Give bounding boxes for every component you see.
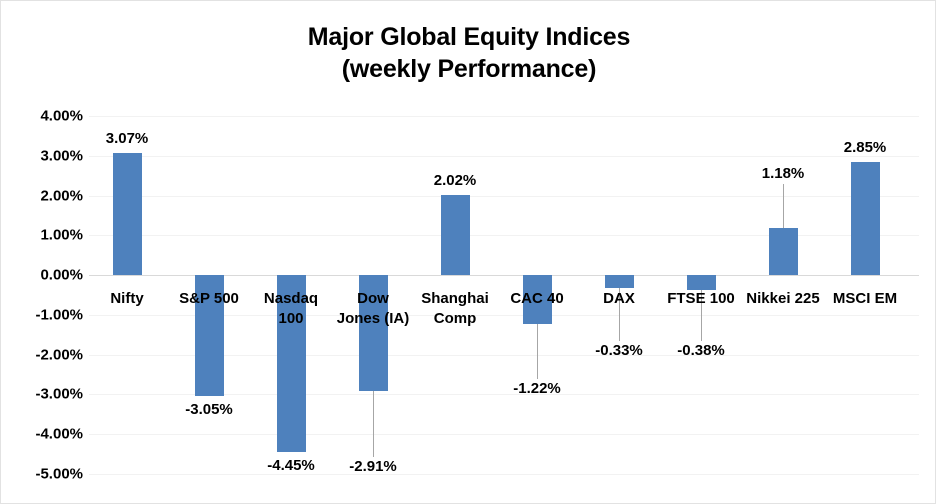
y-axis: 4.00%3.00%2.00%1.00%0.00%-1.00%-2.00%-3.…: [1, 116, 83, 474]
x-axis-category-label: Nikkei 225: [740, 289, 826, 309]
x-axis-category-label: ShanghaiComp: [412, 289, 498, 329]
data-label: -3.05%: [185, 402, 233, 418]
x-axis-category-label-line: Jones (IA): [330, 309, 416, 329]
x-axis-category-label-line: S&P 500: [166, 289, 252, 309]
bar[interactable]: [605, 275, 634, 288]
x-axis-category-label: S&P 500: [166, 289, 252, 309]
y-axis-tick-label: 3.00%: [9, 148, 83, 163]
data-label: 3.07%: [106, 131, 149, 147]
data-label: -0.33%: [595, 343, 643, 359]
x-axis-category-label: Nifty: [84, 289, 170, 309]
bar[interactable]: [113, 153, 142, 275]
y-axis-tick-label: 0.00%: [9, 268, 83, 283]
data-label: 2.85%: [844, 140, 887, 156]
x-axis-category-label-line: Comp: [412, 309, 498, 329]
data-label: -4.45%: [267, 458, 315, 474]
bar[interactable]: [441, 195, 470, 275]
data-label: -2.91%: [349, 459, 397, 475]
equity-indices-bar-chart: Major Global Equity Indices (weekly Perf…: [0, 0, 936, 504]
y-axis-tick-label: 1.00%: [9, 228, 83, 243]
data-label: -0.38%: [677, 343, 725, 359]
x-axis-category-label-line: MSCI EM: [822, 289, 908, 309]
x-axis-category-label-line: 100: [248, 309, 334, 329]
chart-title-line-2: (weekly Performance): [1, 53, 936, 85]
leader-line: [783, 184, 784, 228]
x-axis-category-label: DAX: [576, 289, 662, 309]
x-axis-category-label-line: CAC 40: [494, 289, 580, 309]
x-axis-category-label-line: FTSE 100: [658, 289, 744, 309]
x-axis-category-label-line: Shanghai: [412, 289, 498, 309]
y-axis-tick-label: -1.00%: [9, 307, 83, 322]
gridline: [89, 156, 919, 157]
x-axis-category-label-line: Dow: [330, 289, 416, 309]
y-axis-tick-label: -3.00%: [9, 387, 83, 402]
y-axis-tick-label: 4.00%: [9, 109, 83, 124]
gridline: [89, 474, 919, 475]
data-label: 2.02%: [434, 173, 477, 189]
leader-line: [373, 391, 374, 457]
y-axis-tick-label: -2.00%: [9, 347, 83, 362]
x-axis-category-label-line: Nasdaq: [248, 289, 334, 309]
y-axis-tick-label: -4.00%: [9, 427, 83, 442]
x-axis-category-label-line: Nifty: [84, 289, 170, 309]
x-axis-category-label: DowJones (IA): [330, 289, 416, 329]
chart-title-line-1: Major Global Equity Indices: [1, 21, 936, 53]
bar[interactable]: [851, 162, 880, 275]
chart-title: Major Global Equity Indices (weekly Perf…: [1, 21, 936, 85]
data-label: -1.22%: [513, 381, 561, 397]
x-axis-category-label: CAC 40: [494, 289, 580, 309]
gridline: [89, 196, 919, 197]
x-axis-category-label: FTSE 100: [658, 289, 744, 309]
gridline: [89, 116, 919, 117]
x-axis-category-label: Nasdaq100: [248, 289, 334, 329]
bar[interactable]: [769, 228, 798, 275]
x-axis-category-label-line: Nikkei 225: [740, 289, 826, 309]
x-axis-category-label-line: DAX: [576, 289, 662, 309]
leader-line: [537, 324, 538, 379]
bar[interactable]: [687, 275, 716, 290]
y-axis-tick-label: 2.00%: [9, 188, 83, 203]
y-axis-tick-label: -5.00%: [9, 467, 83, 482]
data-label: 1.18%: [762, 166, 805, 182]
plot-area: 3.07%Nifty-3.05%S&P 500-4.45%Nasdaq100-2…: [89, 116, 919, 474]
x-axis-category-label: MSCI EM: [822, 289, 908, 309]
gridline: [89, 434, 919, 435]
